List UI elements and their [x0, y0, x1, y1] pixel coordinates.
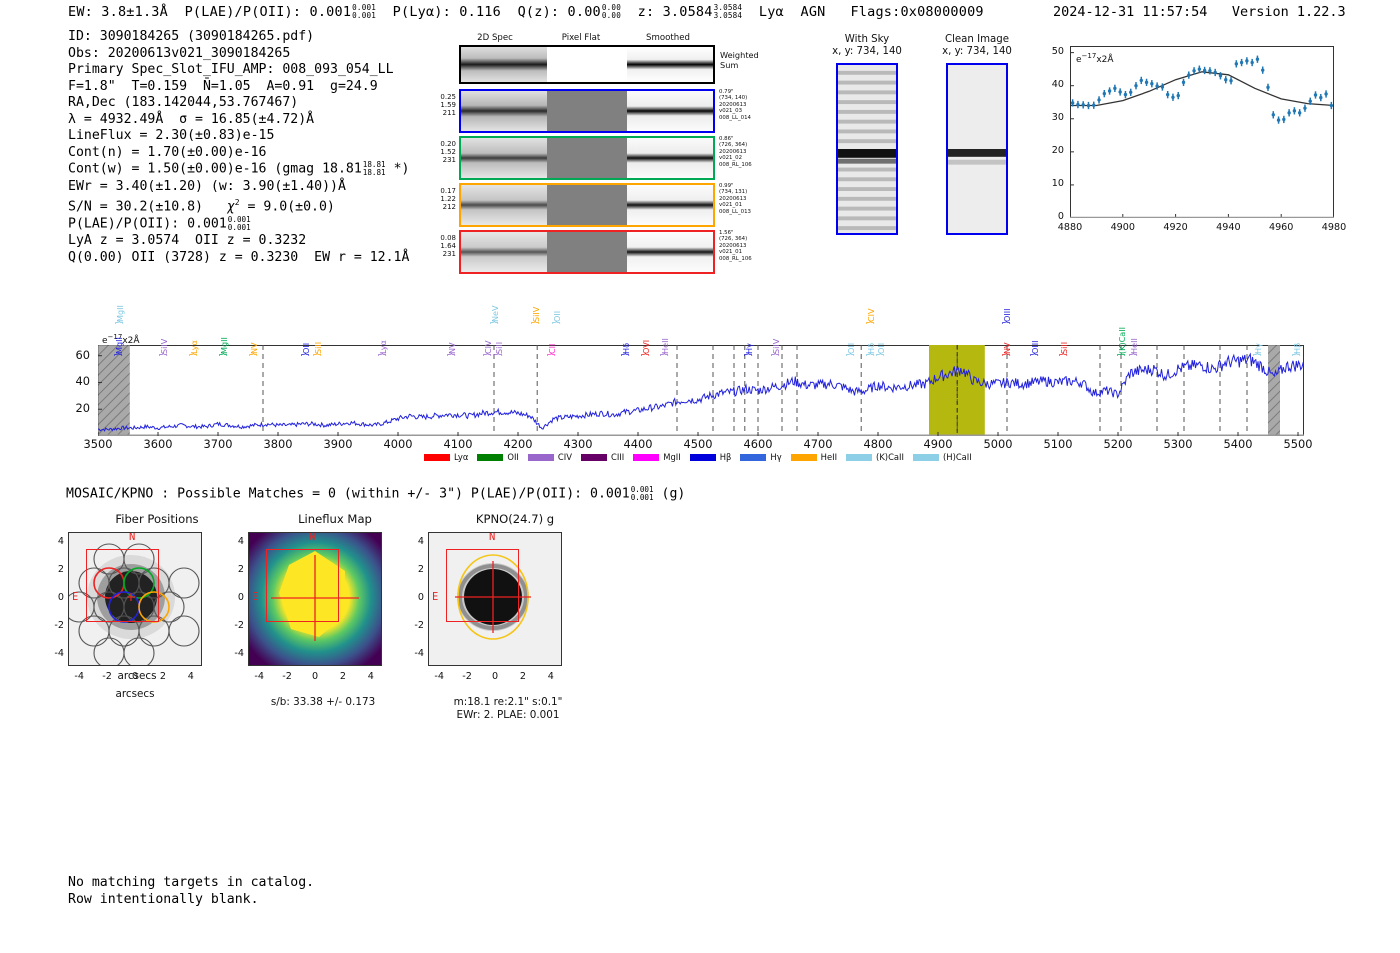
spec2d-row-3[interactable] — [459, 183, 715, 227]
spectrum-line-brace: } — [494, 352, 504, 357]
info-sn-chi: S/N = 30.2(±10.8) χ2 = 9.0(±0.0) — [68, 195, 409, 216]
spectrum-line-brace: } — [660, 352, 670, 357]
lineflux-map-east-label: E — [252, 591, 258, 603]
mosaic-ytick: 0 — [42, 592, 64, 603]
mosaic-xtick: 4 — [537, 671, 565, 682]
zoom-plot-canvas — [1070, 46, 1334, 218]
cutout-with-sky-image[interactable] — [836, 63, 898, 235]
spectrum-xtick: 4500 — [674, 437, 722, 451]
mosaic-headline: MOSAIC/KPNO : Possible Matches = 0 (with… — [66, 486, 685, 502]
spectrum-line-brace: } — [1292, 352, 1302, 357]
full-spectrum-plot[interactable]: e−17x2Å — [98, 345, 1304, 436]
zoom-plot-ytick: 0 — [1038, 211, 1064, 222]
mosaic-ytick: 2 — [402, 564, 424, 575]
info-lineflux: LineFlux = 2.30(±0.83)e-15 — [68, 128, 409, 145]
spec2d-col-title-pixelflat: Pixel Flat — [545, 33, 617, 43]
fiber-positions-image[interactable]: N E — [68, 532, 202, 666]
zoom-plot-ytick: 10 — [1038, 178, 1064, 189]
zoom-plot-ytick: 40 — [1038, 79, 1064, 90]
panel-title-fiber-positions: Fiber Positions — [62, 512, 252, 526]
mosaic-ytick: 4 — [402, 536, 424, 547]
timestamp: 2024-12-31 11:57:54 — [1053, 4, 1207, 20]
spectrum-xtick: 4700 — [794, 437, 842, 451]
mosaic-xtick: -2 — [453, 671, 481, 682]
info-wavelength: λ = 4932.49Å σ = 16.85(±4.72)Å — [68, 112, 409, 129]
info-cont-n: Cont(n) = 1.70(±0.00)e-16 — [68, 145, 409, 162]
legend-item[interactable]: (K)CaII — [846, 452, 904, 462]
spectrum-line-brace: } — [249, 352, 259, 357]
mosaic-ytick: -2 — [222, 620, 244, 631]
version: Version 1.22.3 — [1232, 4, 1346, 20]
lineflux-map-image[interactable]: N E — [248, 532, 382, 666]
mosaic-xtick: -2 — [273, 671, 301, 682]
legend-swatch — [740, 454, 766, 461]
legend-label: Hγ — [770, 452, 781, 462]
cutout-clean-image-title: Clean Imagex, y: 734, 140 — [922, 34, 1032, 59]
spec2d-weighted-sum-row — [459, 45, 715, 84]
spectrum-line-brace: } — [1002, 320, 1012, 325]
mosaic-ytick: -4 — [42, 648, 64, 659]
header-classification: AGN — [801, 4, 826, 20]
mosaic-xtick: 2 — [509, 671, 537, 682]
spectrum-line-brace: } — [1253, 352, 1263, 357]
kpno-image[interactable]: N E — [428, 532, 562, 666]
spectrum-xtick: 5000 — [974, 437, 1022, 451]
spec2d-row-2-left-labels: 0.201.52231 — [408, 140, 456, 165]
spectrum-line-brace: } — [483, 352, 493, 357]
mosaic-ytick: 2 — [42, 564, 64, 575]
legend-swatch — [633, 454, 659, 461]
panel-title-kpno: KPNO(24.7) g — [420, 512, 610, 526]
info-plae-errs: 0.0010.001 — [228, 216, 251, 231]
spectrum-line-brace: } — [378, 352, 388, 357]
legend-label: MgII — [663, 452, 680, 462]
spec2d-row-3-image — [461, 185, 713, 225]
mosaic-xtick: -4 — [245, 671, 273, 682]
legend-item[interactable]: Hβ — [690, 452, 732, 462]
mosaic-ytick: 2 — [222, 564, 244, 575]
spec2d-row-3-right-labels: 0.99"(734, 131) 20200613v021_01 008_LL_0… — [719, 183, 751, 215]
mosaic-xtick: -2 — [93, 671, 121, 682]
spectrum-xtick: 5100 — [1034, 437, 1082, 451]
fiber-positions-red-box — [86, 549, 159, 622]
info-q-oii: Q(0.00) OII (3728) z = 0.3230 EW r = 12.… — [68, 250, 409, 267]
panel-title-lineflux-map: Lineflux Map — [240, 512, 430, 526]
zoom-plot-xtick: 4920 — [1158, 222, 1194, 233]
mosaic-ytick: 0 — [402, 592, 424, 603]
with-sky-pixels — [838, 65, 896, 233]
mosaic-xtick: 4 — [357, 671, 385, 682]
spectrum-xtick: 3600 — [134, 437, 182, 451]
spectrum-xtick: 3800 — [254, 437, 302, 451]
legend-label: OII — [507, 452, 519, 462]
spectrum-line-brace: } — [490, 320, 500, 325]
mosaic-ytick: -2 — [402, 620, 424, 631]
footer-line-2: Row intentionally blank. — [68, 891, 314, 908]
spectrum-xtick: 5400 — [1214, 437, 1262, 451]
legend-label: (K)CaII — [876, 452, 904, 462]
info-gmag-errs: 18.8118.81 — [363, 161, 386, 176]
spectrum-line-brace: } — [1059, 352, 1069, 357]
header-z-label: z: 3.0584 — [638, 4, 713, 20]
spectrum-line-label: (K)CaII — [1117, 327, 1127, 354]
spec2d-weighted-sum-image — [461, 47, 713, 82]
legend-label: CIII — [611, 452, 624, 462]
zoom-plot-xtick: 4960 — [1263, 222, 1299, 233]
zoom-plot-ytick: 50 — [1038, 46, 1064, 57]
fiber-positions-axis-label: arcsecs — [68, 688, 202, 701]
spectrum-xtick: 4600 — [734, 437, 782, 451]
header-summary: EW: 3.8±1.3Å P(LAE)/P(OII): 0.0010.0010.… — [68, 4, 984, 20]
spectrum-canvas — [98, 345, 1304, 436]
legend-label: Lyα — [454, 452, 468, 462]
cutout-with-sky-title: With Skyx, y: 734, 140 — [812, 34, 922, 59]
spec2d-row-4-right-labels: 1.56"(726, 364) 20200613v021_01 008_RL_1… — [719, 230, 752, 262]
spectrum-line-brace: } — [531, 320, 541, 325]
spectrum-xtick: 4000 — [374, 437, 422, 451]
spectrum-line-brace: } — [313, 352, 323, 357]
spec2d-row-1[interactable] — [459, 89, 715, 133]
zoom-plot-xtick: 4900 — [1105, 222, 1141, 233]
spec2d-row-2-right-labels: 0.86"(726, 364) 20200613v021_02 008_RL_1… — [719, 136, 752, 168]
legend-label: (H)CaII — [943, 452, 972, 462]
header-plae-label: P(LAE)/P(OII): 0.001 — [185, 4, 352, 20]
mosaic-ytick: 0 — [222, 592, 244, 603]
spectrum-line-brace: } — [771, 352, 781, 357]
lineflux-map-red-box — [266, 549, 339, 622]
legend-label: HeII — [821, 452, 837, 462]
legend-swatch — [477, 454, 503, 461]
spectrum-line-brace: } — [115, 320, 125, 325]
fiber-positions-north-label: N — [129, 532, 135, 543]
mosaic-xtick: 2 — [149, 671, 177, 682]
info-ewr: EWr = 3.40(±1.20) (w: 3.90(±1.40))Å — [68, 179, 409, 196]
spectrum-line-brace: } — [114, 352, 124, 357]
spectrum-line-brace: } — [1030, 352, 1040, 357]
spec2d-row-2-image — [461, 138, 713, 178]
spec2d-row-1-right-labels: 0.79"(734, 140) 20200613v021_03 008_LL_0… — [719, 89, 751, 121]
kpno-caption-2: EWr: 2. PLAE: 0.001 — [418, 709, 598, 722]
spectrum-ytick: 40 — [58, 374, 90, 388]
clean-image-pixels — [948, 65, 1006, 233]
header-ew: EW: 3.8±1.3Å — [68, 4, 168, 20]
zoom-plot-xtick: 4980 — [1316, 222, 1352, 233]
spectrum-y-ticks: 204060 — [58, 345, 94, 436]
cutout-clean-image[interactable] — [946, 63, 1008, 235]
legend-label: Hβ — [720, 452, 732, 462]
info-z-solutions: LyA z = 3.0574 OII z = 0.3232 — [68, 233, 409, 250]
zoom-plot-ytick: 20 — [1038, 145, 1064, 156]
zoom-plot-ytick: 30 — [1038, 112, 1064, 123]
spec2d-weighted-sum-label: Weighted Sum — [720, 51, 759, 70]
legend-swatch — [528, 454, 554, 461]
spectrum-line-brace: } — [447, 352, 457, 357]
footer-line-1: No matching targets in catalog. — [68, 874, 314, 891]
mosaic-ytick: -4 — [402, 648, 424, 659]
info-radec: RA,Dec (183.142044,53.767467) — [68, 95, 409, 112]
legend-swatch — [846, 454, 872, 461]
legend-swatch — [581, 454, 607, 461]
kpno-red-box — [446, 549, 519, 622]
spec2d-col-title-smoothed: Smoothed — [632, 33, 704, 43]
zoom-plot-xtick: 4880 — [1052, 222, 1088, 233]
mosaic-ytick: 4 — [222, 536, 244, 547]
spectrum-line-brace: } — [876, 352, 886, 357]
mosaic-plae-errs: 0.0010.001 — [631, 486, 654, 501]
spec2d-row-1-left-labels: 0.251.59211 — [408, 93, 456, 118]
object-info-block: ID: 3090184265 (3090184265.pdf) Obs: 202… — [68, 29, 409, 267]
spec2d-panel: 2D Spec Pixel Flat Smoothed Weighted — [420, 33, 760, 258]
header-z-errs: 3.05843.0584 — [714, 4, 743, 19]
legend-swatch — [791, 454, 817, 461]
fiber-positions-east-label: E — [72, 591, 78, 603]
legend-item[interactable]: CIII — [581, 452, 624, 462]
spectrum-line-brace: } — [159, 352, 169, 357]
spectrum-line-brace: } — [1129, 352, 1139, 357]
header-flags: Flags:0x08000009 — [850, 4, 983, 20]
spectrum-xtick: 4400 — [614, 437, 662, 451]
zoom-plot-xtick: 4940 — [1210, 222, 1246, 233]
spectrum-line-brace: } — [866, 320, 876, 325]
kpno-east-label: E — [432, 591, 438, 603]
lineflux-map-caption: s/b: 33.38 +/- 0.173 — [238, 696, 408, 709]
spectrum-xtick: 3900 — [314, 437, 362, 451]
legend-swatch — [690, 454, 716, 461]
kpno-north-label: N — [489, 532, 495, 543]
mosaic-ytick: -4 — [222, 648, 244, 659]
kpno-caption: m:18.1 re:2.1" s:0.1" — [418, 696, 598, 709]
header-plae-errs: 0.0010.001 — [352, 4, 376, 19]
spectrum-xtick: 4900 — [914, 437, 962, 451]
spec2d-row-4-left-labels: 0.081.64231 — [408, 234, 456, 259]
legend-item[interactable]: HeII — [791, 452, 837, 462]
header-line: Lyα — [759, 4, 784, 20]
info-plae: P(LAE)/P(OII): 0.0010.0010.001 — [68, 216, 409, 233]
legend-swatch — [913, 454, 939, 461]
spectrum-xtick: 5300 — [1154, 437, 1202, 451]
legend-item[interactable]: (H)CaII — [913, 452, 972, 462]
spectrum-xtick: 4800 — [854, 437, 902, 451]
spectrum-line-brace: } — [301, 352, 311, 357]
spectrum-legend: LyαOIICIVCIIIMgIIHβHγHeII(K)CaII(H)CaII — [424, 452, 972, 462]
spectrum-line-brace: } — [1002, 352, 1012, 357]
mosaic-xtick: 0 — [481, 671, 509, 682]
mosaic-xtick: 0 — [301, 671, 329, 682]
spectrum-xtick: 5500 — [1274, 437, 1322, 451]
spectrum-line-brace: } — [552, 320, 562, 325]
lineflux-map-north-label: N — [309, 532, 315, 543]
mosaic-ytick: -2 — [42, 620, 64, 631]
spectrum-xtick: 3700 — [194, 437, 242, 451]
legend-item[interactable]: Lyα — [424, 452, 468, 462]
spectrum-line-brace: } — [621, 352, 631, 357]
spectrum-line-brace: } — [547, 352, 557, 357]
spectrum-line-brace: } — [189, 352, 199, 357]
header-qz-errs: 0.000.00 — [602, 4, 621, 19]
legend-item[interactable]: CIV — [528, 452, 572, 462]
mosaic-xtick: -4 — [425, 671, 453, 682]
header-plya: P(Lyα): 0.116 — [393, 4, 501, 20]
spectrum-xtick: 4200 — [494, 437, 542, 451]
mosaic-xtick: 2 — [329, 671, 357, 682]
mosaic-xtick: 0 — [121, 671, 149, 682]
spectrum-line-brace: } — [846, 352, 856, 357]
spectrum-line-brace: } — [744, 352, 754, 357]
spec2d-row-1-image — [461, 91, 713, 131]
spectrum-ytick: 20 — [58, 401, 90, 415]
info-primary-spec: Primary Spec_Slot_IFU_AMP: 008_093_054_L… — [68, 62, 409, 79]
mosaic-ytick: 4 — [42, 536, 64, 547]
legend-item[interactable]: Hγ — [740, 452, 781, 462]
spectrum-xtick: 5200 — [1094, 437, 1142, 451]
spectrum-x-ticks: 3500360037003800390040004100420043004400… — [98, 437, 1304, 453]
legend-item[interactable]: MgII — [633, 452, 680, 462]
spectrum-ytick: 60 — [58, 348, 90, 362]
header-timestamp-version: 2024-12-31 11:57:54 Version 1.22.3 — [1053, 4, 1346, 20]
spec2d-row-3-left-labels: 0.171.22212 — [408, 187, 456, 212]
emission-line-zoom-plot[interactable]: e−17x2Å 01020304050488049004920494049604… — [1032, 40, 1342, 230]
mosaic-xtick: 4 — [177, 671, 205, 682]
spectrum-xtick: 3500 — [74, 437, 122, 451]
info-seeing: F=1.8" T=0.159 N̄=1.05 A=0.91 g=24.9 — [68, 79, 409, 96]
mosaic-xtick: -4 — [65, 671, 93, 682]
header-qz-label: Q(z): 0.00 — [518, 4, 601, 20]
spec2d-col-title-2dspec: 2D Spec — [459, 33, 531, 43]
footer-note: No matching targets in catalog. Row inte… — [68, 874, 314, 908]
spectrum-xtick: 4300 — [554, 437, 602, 451]
info-id: ID: 3090184265 (3090184265.pdf) — [68, 29, 409, 46]
spectrum-xtick: 4100 — [434, 437, 482, 451]
spectrum-line-brace: } — [1117, 352, 1127, 357]
legend-label: CIV — [558, 452, 572, 462]
spec2d-row-4-image — [461, 232, 713, 272]
legend-swatch — [424, 454, 450, 461]
info-cont-w: Cont(w) = 1.50(±0.00)e-16 (gmag 18.8118.… — [68, 161, 409, 178]
spectrum-line-labels: MgII}SiIV}Lyα}MgII}NV}OII}SiII}Lyα}NV}CI… — [98, 268, 1304, 346]
spectrum-line-brace: } — [219, 352, 229, 357]
spectrum-line-brace: } — [641, 352, 651, 357]
spectrum-line-brace: } — [866, 352, 876, 357]
legend-item[interactable]: OII — [477, 452, 519, 462]
spec2d-row-2[interactable] — [459, 136, 715, 180]
info-obs: Obs: 20200613v021_3090184265 — [68, 46, 409, 63]
